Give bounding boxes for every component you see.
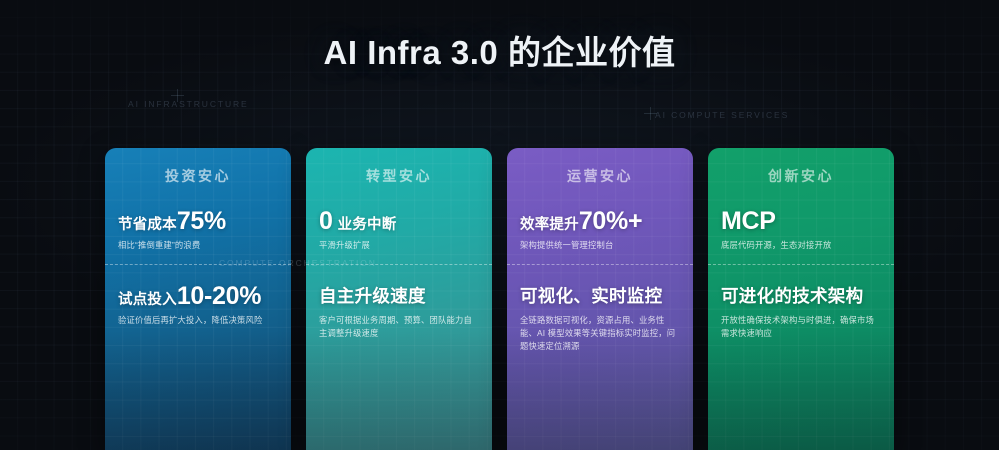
metric-label: 试点投入 xyxy=(118,292,177,308)
card-metric: 效率提升70%+ xyxy=(520,208,680,234)
card-bottom-section: 试点投入10-20% 验证价值后再扩大投入，降低决策风险 xyxy=(105,283,291,327)
card-bottom-section: 自主升级速度 客户可根据业务周期、预算、团队能力自主调整升级速度 xyxy=(306,283,492,340)
card-headline: 可进化的技术架构 xyxy=(721,283,881,308)
card-subtext: 全链路数据可视化，资源占用、业务性能、AI 模型效果等关键指标实时监控，问题快速… xyxy=(520,314,680,353)
card-header-operations: 运营安心 xyxy=(507,148,693,186)
card-header-transformation: 转型安心 xyxy=(306,148,492,186)
card-metric: MCP xyxy=(721,208,881,234)
card-transformation[interactable]: 转型安心 0业务中断 平滑升级扩展 自主升级速度 客户可根据业务周期、预算、团队… xyxy=(306,148,492,450)
card-subtext: 相比“推倒重建”的浪费 xyxy=(118,239,278,252)
card-header-innovation: 创新安心 xyxy=(708,148,894,186)
card-top-section: 0业务中断 平滑升级扩展 xyxy=(306,208,492,252)
card-subtext: 架构提供统一管理控制台 xyxy=(520,239,680,252)
metric-label: 节省成本 xyxy=(118,217,177,233)
card-headline: 自主升级速度 xyxy=(319,283,479,308)
page-title: AI Infra 3.0 的企业价值 xyxy=(0,26,999,74)
card-subtext: 客户可根据业务周期、预算、团队能力自主调整升级速度 xyxy=(319,314,479,340)
metric-number: 0 xyxy=(319,207,333,235)
card-subtext: 底层代码开源，生态对接开放 xyxy=(721,239,881,252)
card-operations[interactable]: 运营安心 效率提升70%+ 架构提供统一管理控制台 可视化、实时监控 全链路数据… xyxy=(507,148,693,450)
card-divider xyxy=(708,264,894,265)
card-metric: 0业务中断 xyxy=(319,208,479,234)
card-investment[interactable]: 投资安心 节省成本75% 相比“推倒重建”的浪费 试点投入10-20% 验证价值… xyxy=(105,148,291,450)
card-metric: 节省成本75% xyxy=(118,208,278,234)
card-bottom-section: 可视化、实时监控 全链路数据可视化，资源占用、业务性能、AI 模型效果等关键指标… xyxy=(507,283,693,353)
metric-number: 75% xyxy=(177,207,226,235)
card-top-section: MCP 底层代码开源，生态对接开放 xyxy=(708,208,894,252)
watermark-compute-orchestration: COMPUTE ORCHESTRATION xyxy=(219,258,377,268)
card-bottom-section: 可进化的技术架构 开放性确保技术架构与时俱进，确保市场需求快速响应 xyxy=(708,283,894,340)
card-metric: 试点投入10-20% xyxy=(118,283,278,309)
card-subtext: 平滑升级扩展 xyxy=(319,239,479,252)
card-subtext: 开放性确保技术架构与时俱进，确保市场需求快速响应 xyxy=(721,314,881,340)
card-divider xyxy=(507,264,693,265)
metric-number: 10-20% xyxy=(177,282,261,310)
card-top-section: 节省成本75% 相比“推倒重建”的浪费 xyxy=(105,208,291,252)
metric-label: 效率提升 xyxy=(520,217,579,233)
card-innovation[interactable]: 创新安心 MCP 底层代码开源，生态对接开放 可进化的技术架构 开放性确保技术架… xyxy=(708,148,894,450)
card-top-section: 效率提升70%+ 架构提供统一管理控制台 xyxy=(507,208,693,252)
metric-number: MCP xyxy=(721,207,776,235)
card-header-investment: 投资安心 xyxy=(105,148,291,186)
card-subtext: 验证价值后再扩大投入，降低决策风险 xyxy=(118,314,278,327)
card-headline: 可视化、实时监控 xyxy=(520,283,680,308)
metric-number: 70%+ xyxy=(579,207,642,235)
metric-label: 业务中断 xyxy=(338,217,397,233)
